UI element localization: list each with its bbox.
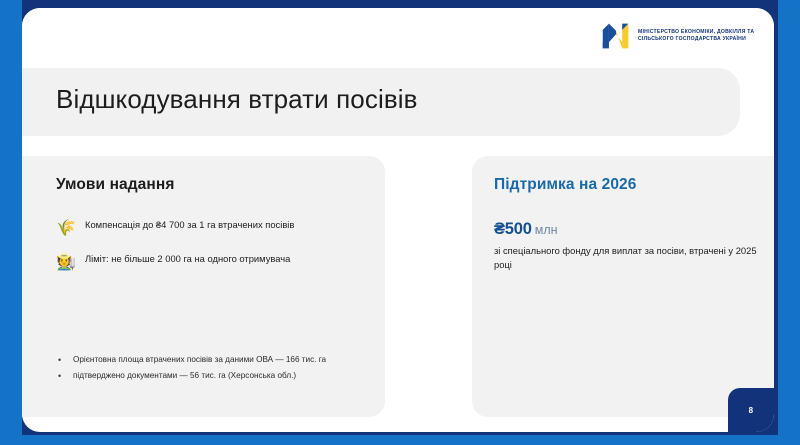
slide-header: Міністерство економіки, довкілля та сіль…	[22, 8, 774, 70]
blue-band-left	[0, 0, 22, 445]
support-description: зі спеціального фонду для виплат за посі…	[494, 244, 762, 272]
farmer-icon: 🧑‍🌾	[56, 252, 76, 272]
slide-root: Міністерство економіки, довкілля та сіль…	[0, 0, 800, 445]
bullet-marker-icon: •	[58, 370, 64, 384]
ministry-logo: Міністерство економіки, довкілля та сіль…	[601, 22, 760, 50]
slide-canvas: Міністерство економіки, довкілля та сіль…	[22, 8, 774, 432]
support-amount-line: ₴500млн	[494, 220, 558, 239]
slide-title-plate: Відшкодування втрати посівів	[22, 68, 740, 136]
condition-text: Компенсація до ₴4 700 за 1 га втрачених …	[85, 218, 294, 232]
conditions-bullets: • Орієнтовна площа втрачених посівів за …	[58, 354, 368, 386]
ministry-m-logo-icon	[601, 22, 631, 50]
list-item: 🌾 Компенсація до ₴4 700 за 1 га втрачени…	[56, 218, 371, 238]
blue-band-right	[778, 0, 800, 445]
page-number-badge: 8	[728, 388, 774, 432]
list-item: • Орієнтовна площа втрачених посівів за …	[58, 354, 368, 368]
support-card: Підтримка на 2026 ₴500млн зі спеціальног…	[472, 156, 774, 417]
ministry-logo-text: Міністерство економіки, довкілля та сіль…	[638, 29, 760, 43]
support-amount-unit: млн	[535, 223, 558, 237]
bullet-text: Орієнтовна площа втрачених посівів за да…	[73, 354, 326, 366]
bullet-text: підтверджено документами — 56 тис. га (Х…	[73, 370, 296, 382]
blue-band-bottom	[0, 435, 800, 445]
page-title: Відшкодування втрати посівів	[56, 84, 418, 115]
list-item: 🧑‍🌾 Ліміт: не більше 2 000 га на одного …	[56, 252, 371, 272]
condition-text: Ліміт: не більше 2 000 га на одного отри…	[85, 252, 290, 266]
conditions-heading: Умови надання	[56, 176, 174, 194]
bullet-marker-icon: •	[58, 354, 64, 368]
support-amount-value: ₴500	[494, 220, 532, 238]
page-number: 8	[749, 406, 754, 415]
conditions-card: Умови надання 🌾 Компенсація до ₴4 700 за…	[22, 156, 385, 417]
list-item: • підтверджено документами — 56 тис. га …	[58, 370, 368, 384]
conditions-list: 🌾 Компенсація до ₴4 700 за 1 га втрачени…	[56, 218, 371, 286]
support-heading: Підтримка на 2026	[494, 176, 637, 194]
sheaf-of-rice-icon: 🌾	[56, 218, 76, 238]
